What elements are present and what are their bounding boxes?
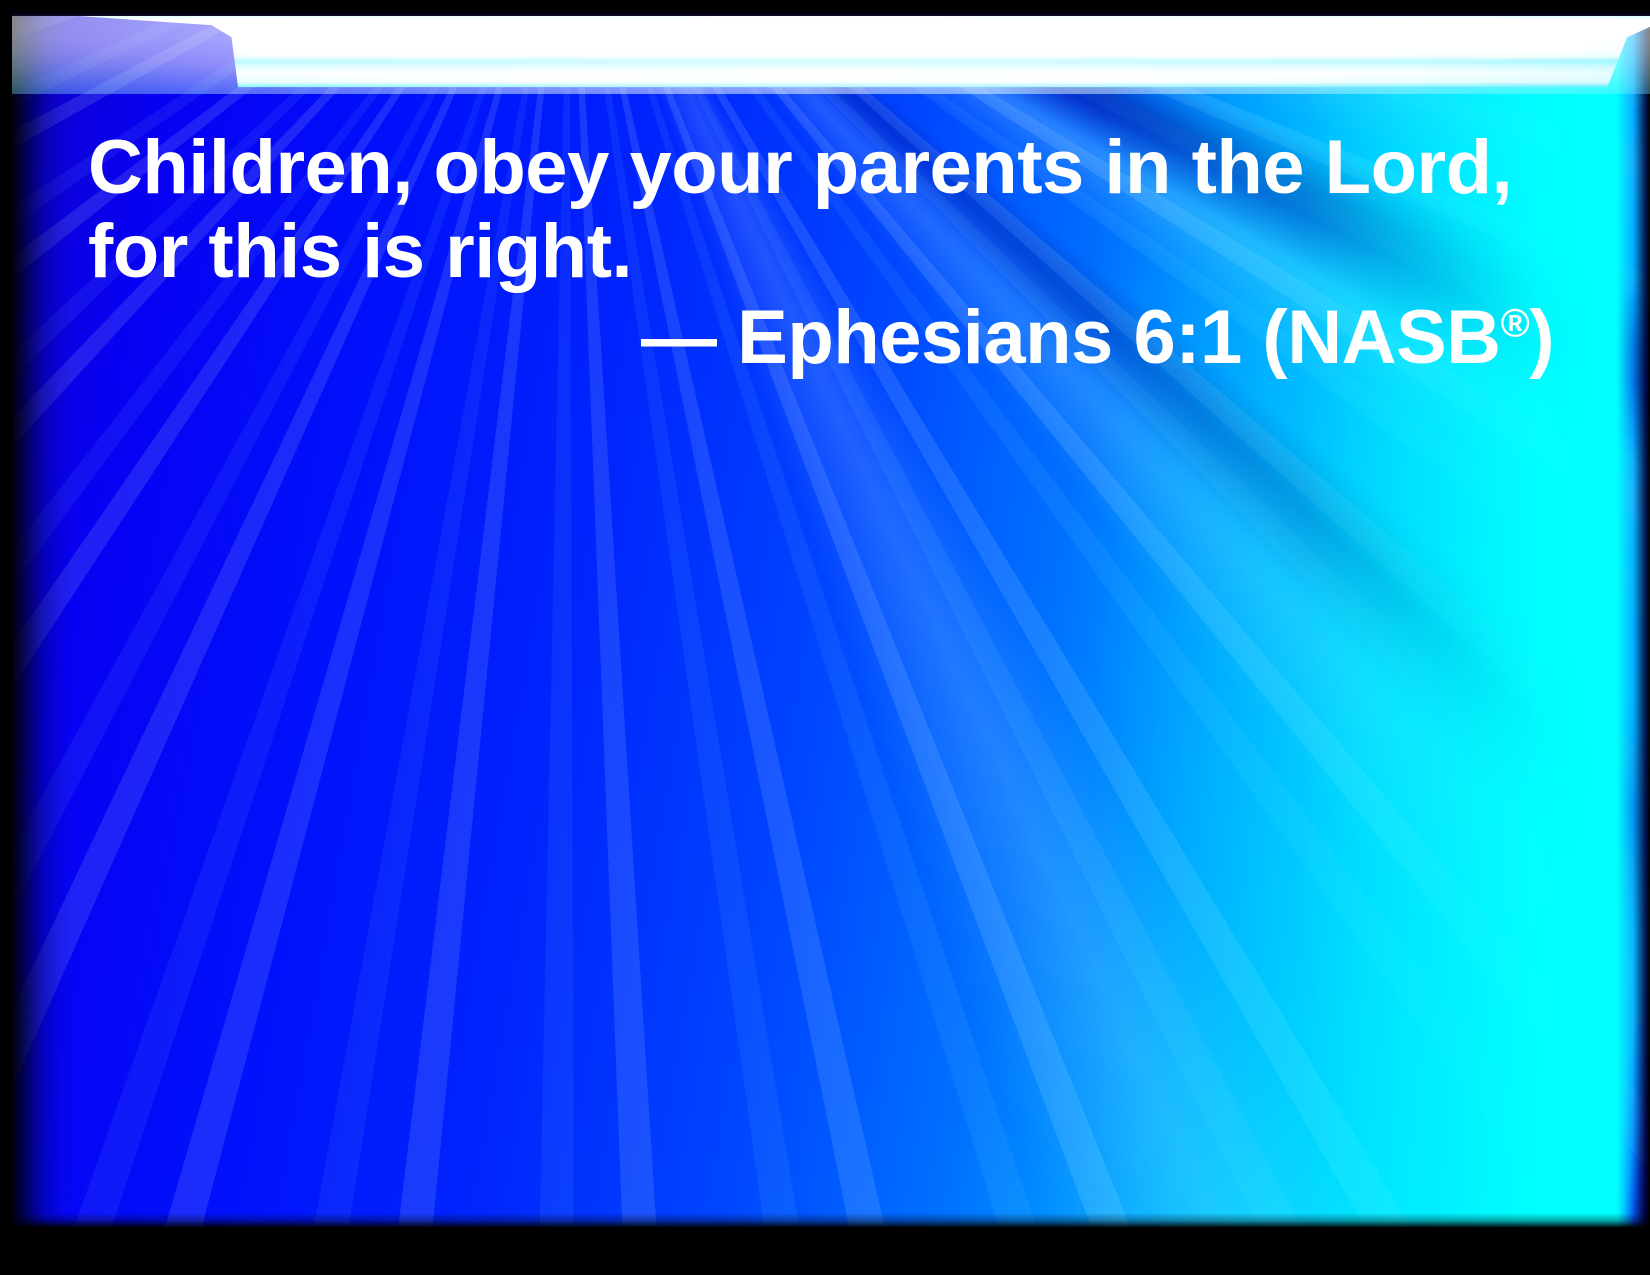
slide-canvas: Children, obey your parents in the Lord,… [12, 8, 1650, 1227]
top-black-strip [12, 8, 1650, 16]
verse-slide: Children, obey your parents in the Lord,… [0, 0, 1650, 1275]
dark-ray-secondary [12, 8, 1650, 1227]
